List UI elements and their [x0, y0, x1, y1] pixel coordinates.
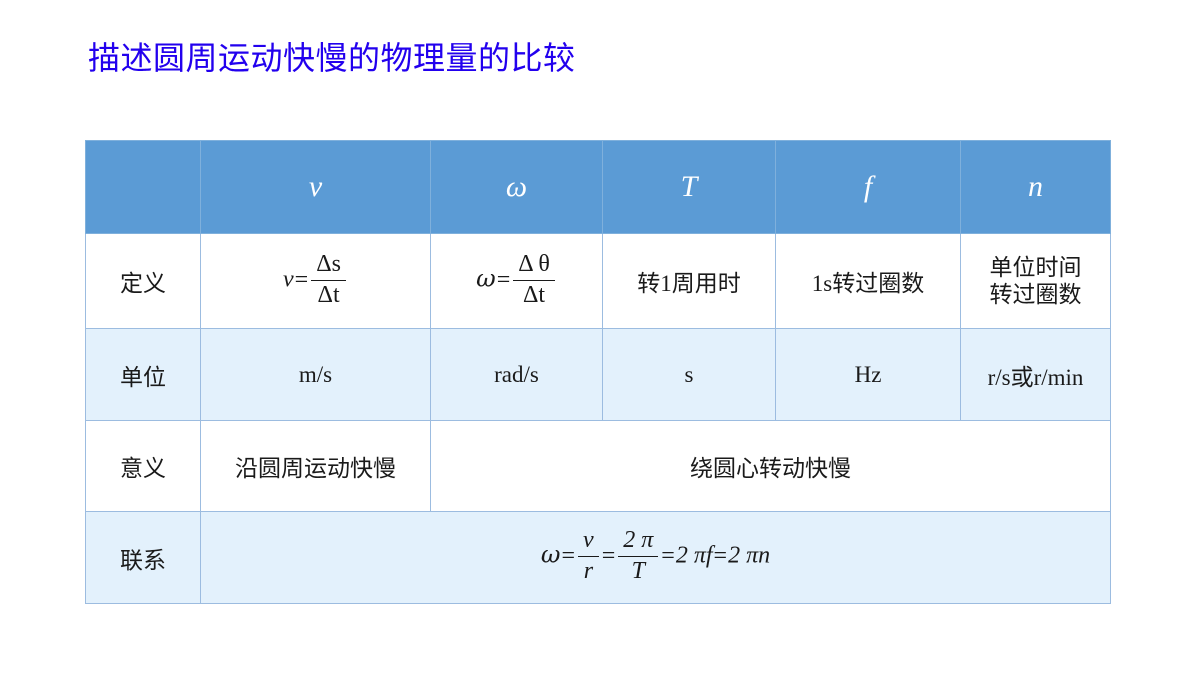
- cell-definition-omega: ω=Δ θΔt: [431, 234, 603, 329]
- table-row-meaning: 意义 沿圆周运动快慢 绕圆心转动快慢: [86, 421, 1111, 512]
- cell-unit-f: Hz: [776, 329, 961, 421]
- table-row-relation: 联系 ω=vr=2 πT=2 πf=2 πn: [86, 512, 1111, 604]
- cell-definition-n-line2: 转过圈数: [965, 281, 1106, 308]
- relation-term-twopin: 2 πn: [728, 543, 770, 569]
- fraction: ΔsΔt: [311, 251, 346, 309]
- fraction-numerator: Δs: [311, 251, 346, 281]
- fraction: Δ θΔt: [513, 251, 555, 309]
- formula-lhs: ω: [476, 265, 496, 293]
- page-title: 描述圆周运动快慢的物理量的比较: [88, 38, 576, 78]
- relation-equals-3: =: [660, 543, 676, 569]
- fraction-denominator: Δt: [513, 281, 555, 310]
- row-label-relation: 联系: [86, 512, 201, 604]
- cell-definition-n-line1: 单位时间: [965, 254, 1106, 281]
- relation-equals-4: =: [713, 543, 729, 569]
- fraction-numerator: 2 π: [618, 527, 658, 557]
- relation-fraction-twopi-over-T: 2 πT: [618, 527, 658, 585]
- cell-meaning-v: 沿圆周运动快慢: [201, 421, 431, 512]
- fraction-denominator: T: [618, 557, 658, 586]
- cell-unit-T: s: [603, 329, 776, 421]
- header-cell-T: T: [603, 141, 776, 234]
- formula-angular-speed: ω=Δ θΔt: [476, 252, 557, 310]
- slide-canvas: 描述圆周运动快慢的物理量的比较 v ω T f n 定义 v=ΔsΔt: [0, 0, 1200, 675]
- relation-lhs: ω: [541, 541, 561, 569]
- cell-definition-f: 1s转过圈数: [776, 234, 961, 329]
- header-cell-blank: [86, 141, 201, 234]
- formula-relation-chain: ω=vr=2 πT=2 πf=2 πn: [541, 528, 770, 586]
- cell-definition-v: v=ΔsΔt: [201, 234, 431, 329]
- cell-unit-omega: rad/s: [431, 329, 603, 421]
- cell-relation-merged: ω=vr=2 πT=2 πf=2 πn: [201, 512, 1111, 604]
- fraction-denominator: Δt: [311, 281, 346, 310]
- cell-unit-n: r/s或r/min: [961, 329, 1111, 421]
- cell-meaning-merged: 绕圆心转动快慢: [431, 421, 1111, 512]
- relation-fraction-v-over-r: vr: [578, 527, 599, 585]
- formula-lhs: v: [283, 267, 294, 293]
- table-row-unit: 单位 m/s rad/s s Hz r/s或r/min: [86, 329, 1111, 421]
- row-label-meaning: 意义: [86, 421, 201, 512]
- fraction-numerator: v: [578, 527, 599, 557]
- physics-comparison-table: v ω T f n 定义 v=ΔsΔt ω=Δ θΔt: [85, 140, 1111, 604]
- row-label-unit: 单位: [86, 329, 201, 421]
- cell-definition-T: 转1周用时: [603, 234, 776, 329]
- header-cell-f: f: [776, 141, 961, 234]
- header-cell-v: v: [201, 141, 431, 234]
- cell-unit-v: m/s: [201, 329, 431, 421]
- relation-term-twopif: 2 πf: [676, 543, 713, 569]
- cell-definition-n: 单位时间 转过圈数: [961, 234, 1111, 329]
- relation-equals-1: =: [560, 543, 576, 569]
- row-label-definition: 定义: [86, 234, 201, 329]
- header-cell-omega: ω: [431, 141, 603, 234]
- relation-equals-2: =: [601, 543, 617, 569]
- fraction-denominator: r: [578, 557, 599, 586]
- fraction-numerator: Δ θ: [513, 251, 555, 281]
- table-header-row: v ω T f n: [86, 141, 1111, 234]
- formula-equals: =: [294, 267, 310, 293]
- formula-linear-speed: v=ΔsΔt: [283, 252, 348, 310]
- formula-equals: =: [496, 267, 512, 293]
- header-cell-n: n: [961, 141, 1111, 234]
- table-row-definition: 定义 v=ΔsΔt ω=Δ θΔt 转1周用时 1s转过圈数 单位时间 转过圈数: [86, 234, 1111, 329]
